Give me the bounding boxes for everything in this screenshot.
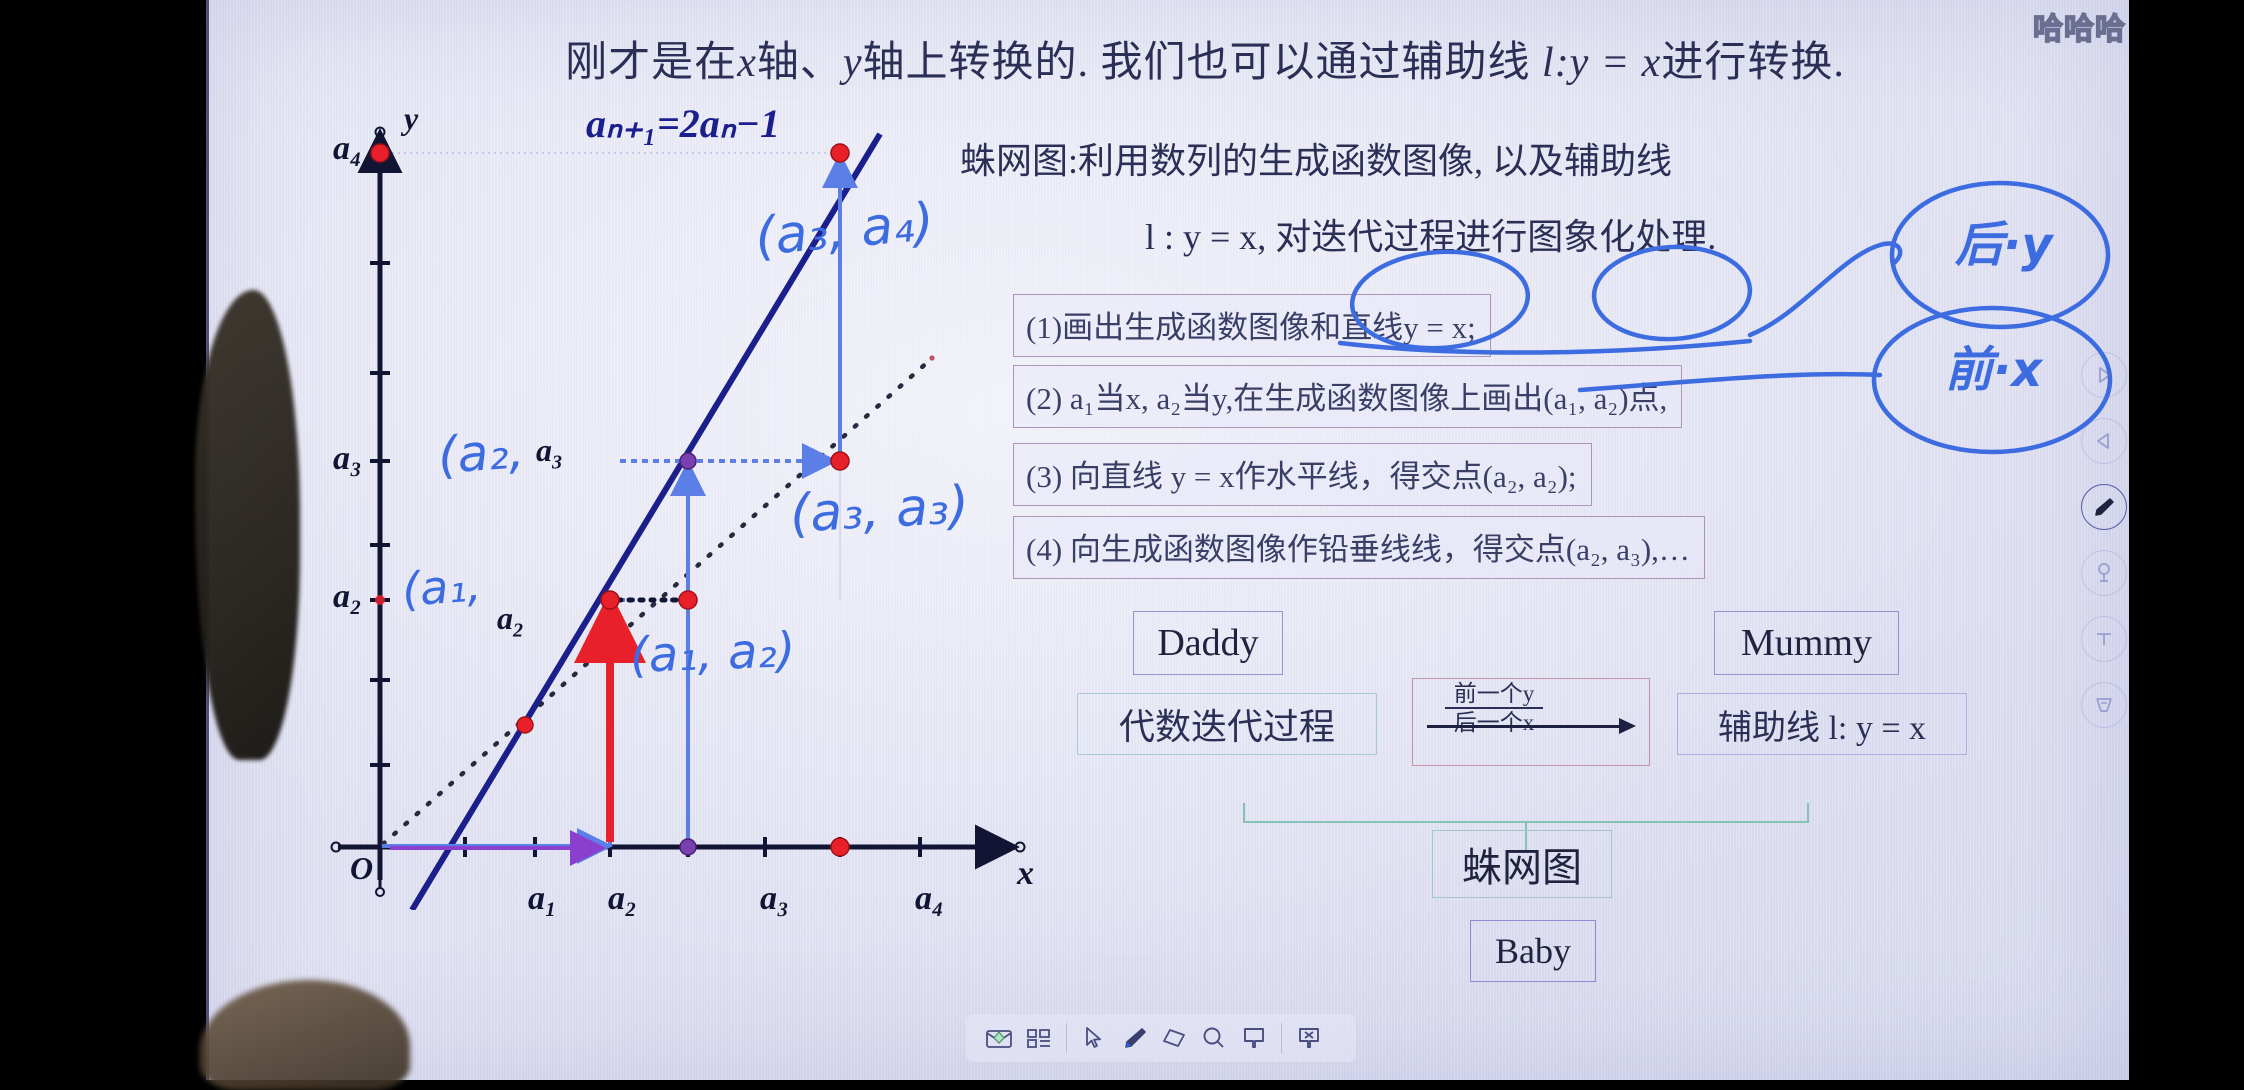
pen-tool-icon[interactable]: [2081, 484, 2127, 530]
baby-box: Baby: [1470, 920, 1596, 982]
mummy-box: Mummy: [1714, 611, 1899, 675]
toolbar-group-tools: [1069, 1021, 1279, 1055]
summary-brace: [1243, 795, 1809, 829]
x-tick-a3: a₃: [760, 880, 789, 918]
mapping-arrow-box: 前一个y 后一个x: [1412, 678, 1650, 766]
page-title: 刚才是在x轴、y轴上转换的. 我们也可以通过辅助线 l:y = x进行转换.: [355, 28, 2055, 89]
title-mid2: 轴上转换的. 我们也可以通过辅助线: [863, 40, 1543, 86]
x-tick-a1: a₁: [528, 880, 557, 918]
arrow-numerator: 前一个y: [1439, 681, 1549, 706]
play-prev-icon[interactable]: [2081, 418, 2127, 464]
right-dark-margin: [2129, 0, 2244, 1080]
screenshot-root: 哈哈哈 刚才是在x轴、y轴上转换的. 我们也可以通过辅助线 l:y = x进行转…: [0, 0, 2244, 1080]
spiderweb-box: 蛛网图: [1432, 830, 1612, 898]
step-box-2: (2) a₁当x, a₂当y,在生成函数图像上画出(a₁, a₂)点,: [1013, 365, 1682, 428]
tools-icon[interactable]: [2081, 682, 2127, 728]
title-line-label: l:y = x: [1542, 40, 1661, 86]
text-icon[interactable]: [2081, 616, 2127, 662]
daddy-box: Daddy: [1133, 611, 1283, 675]
step-box-3: (3) 向直线 y = x作水平线，得交点(a₂, a₂);: [1013, 443, 1592, 506]
step-box-4: (4) 向生成函数图像作铅垂线线，得交点(a₂, a₃),…: [1013, 516, 1705, 579]
toolbar-divider-1: [1066, 1023, 1067, 1053]
recurrence-formula: aₙ₊₁=2aₙ−1: [586, 100, 780, 147]
point-label-a2: a2: [497, 600, 523, 642]
exit-icon[interactable]: [1292, 1021, 1326, 1055]
arrow-shaft: [1427, 725, 1627, 728]
step-box-1: (1)画出生成函数图像和直线y = x;: [1013, 294, 1491, 357]
tree-icon[interactable]: [2081, 550, 2127, 596]
definition-line-1: 蛛网图:利用数列的生成函数图像, 以及辅助线: [960, 132, 1672, 184]
presenter-silhouette: [195, 290, 300, 760]
left-dark-margin: [0, 0, 206, 1080]
eraser-icon[interactable]: [1157, 1021, 1191, 1055]
definition-line-2: l : y = x, 对迭代过程进行图象化处理.: [1145, 208, 1716, 260]
origin-label: O: [350, 850, 373, 887]
y-axis-label: y: [404, 100, 418, 137]
presentation-toolbar[interactable]: [966, 1014, 1356, 1062]
x-tick-a4: a₄: [915, 880, 944, 918]
y-tick-a4: a₄: [333, 130, 362, 168]
play-next-icon[interactable]: [2081, 352, 2127, 398]
title-x: x: [737, 40, 757, 86]
title-mid1: 轴、: [757, 40, 843, 86]
toolbar-group-exit: [1284, 1021, 1334, 1055]
x-tick-a2: a₂: [608, 880, 637, 918]
fraction-bar: [1445, 707, 1543, 709]
right-sidebar[interactable]: [2078, 352, 2130, 728]
cobweb-chart: [320, 120, 1040, 910]
y-tick-a2: a₂: [333, 578, 362, 616]
arrow-head: [1619, 718, 1636, 734]
point-label-a3: a3: [536, 432, 562, 474]
algebraic-process-box: 代数迭代过程: [1077, 693, 1377, 755]
auxiliary-line-box: 辅助线 l: y = x: [1677, 693, 1967, 755]
toolbar-group-left: [974, 1021, 1064, 1055]
arrow-denominator: 后一个x: [1439, 710, 1549, 735]
whiteboard-icon[interactable]: [1237, 1021, 1271, 1055]
magnifier-icon[interactable]: [1197, 1021, 1231, 1055]
title-y: y: [843, 40, 863, 86]
cursor-icon[interactable]: [1077, 1021, 1111, 1055]
title-suffix: 进行转换.: [1661, 40, 1845, 86]
envelope-icon[interactable]: [982, 1021, 1016, 1055]
x-axis-label: x: [1017, 855, 1034, 893]
pen-icon[interactable]: [1117, 1021, 1151, 1055]
layout-icon[interactable]: [1022, 1021, 1056, 1055]
y-tick-a3: a₃: [333, 440, 362, 478]
title-prefix: 刚才是在: [565, 40, 737, 86]
toolbar-divider-2: [1281, 1023, 1282, 1053]
